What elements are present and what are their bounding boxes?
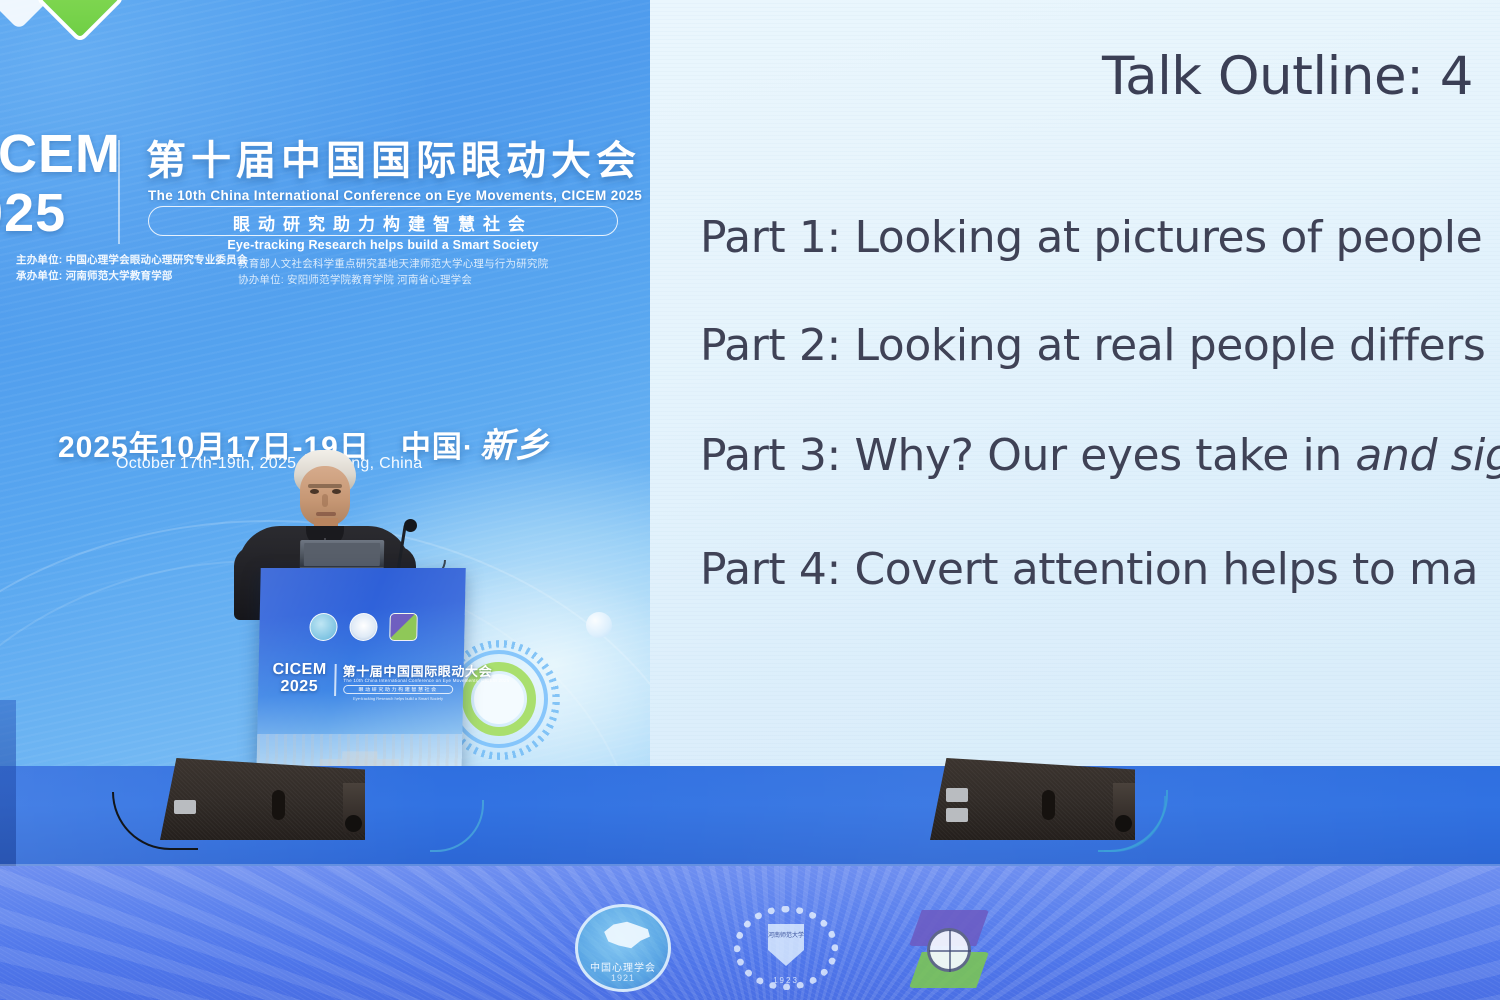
backdrop-divider: [118, 140, 120, 244]
podium-logo-row: [309, 612, 418, 642]
china-map-icon: [600, 919, 652, 953]
stage-left-wall: [0, 700, 16, 870]
backdrop-brand-name: CICEM: [0, 128, 122, 181]
podium-logo-cps-icon: [309, 613, 338, 641]
logo-university-name: 河南师范大学: [768, 932, 804, 941]
podium-subtitle-zh: 眼动研究助力构建智慧社会: [343, 686, 453, 693]
slide-title: Talk Outline: 4: [1102, 46, 1473, 107]
monitor-left-handle: [272, 790, 285, 820]
slide-bullet-part-3-lead: Part 3: Why? Our eyes take in: [700, 430, 1355, 481]
slide-bullet-part-3: Part 3: Why? Our eyes take in and sig: [700, 430, 1500, 481]
screen-scanlines: [650, 0, 1500, 768]
logo-cps-name: 中国心理学会: [578, 959, 668, 974]
backdrop-brand-year: 2025: [0, 185, 122, 242]
globe-icon: [927, 928, 971, 972]
podium-brand-year: 2025: [268, 679, 330, 696]
logo-chinese-psychological-society-icon: 中国心理学会 1921: [575, 904, 671, 992]
slide-bullet-part-2: Part 2: Looking at real people differs: [700, 320, 1485, 371]
podium-title-en: The 10th China International Conference …: [343, 678, 509, 683]
logo-cps-year: 1921: [578, 973, 668, 983]
backdrop-subtitle-en: Eye-tracking Research helps build a Smar…: [148, 238, 618, 252]
speaker-eye-right: [332, 489, 341, 494]
monitor-right-handle: [1042, 790, 1055, 820]
backdrop-brand-lockup: CICEM 2025: [0, 128, 122, 242]
projection-screen: Talk Outline: 4 Part 1: Looking at pictu…: [650, 0, 1500, 768]
backdrop-organizer-line: 承办单位: 河南师范大学教育学部: [16, 268, 173, 283]
monitor-right-connector-a: [946, 788, 968, 802]
backdrop-host-line: 主办单位: 中国心理学会眼动心理研究专业委员会: [16, 252, 248, 267]
slide-bullet-part-3-emphasis: and sig: [1355, 430, 1500, 481]
slide-bullet-part-4: Part 4: Covert attention helps to ma: [700, 544, 1478, 595]
backdrop-coorganizer-line: 教育部人文社会科学重点研究基地天津师范大学心理与行为研究院: [238, 256, 548, 271]
laptop-screen: [304, 543, 380, 566]
stage-skirt-logo-row: 中国心理学会 1921 河南师范大学 1923: [575, 900, 995, 996]
podium-logo-university-icon: [349, 613, 378, 641]
corner-logo-green-icon: [35, 0, 126, 43]
logo-university-year: 1923: [734, 976, 838, 985]
podium-logo-s-icon: [389, 613, 418, 641]
monitor-left-port: [345, 815, 362, 832]
backdrop-title-zh: 第十届中国国际眼动大会: [146, 140, 616, 182]
bubble-decoration: [586, 612, 612, 638]
laptop: [300, 540, 384, 568]
conference-stage-photo: CICEM 2025 第十届中国国际眼动大会 The 10th China In…: [0, 0, 1500, 1000]
speaker-brow: [308, 484, 342, 488]
logo-university-crest-icon: 河南师范大学 1923: [734, 902, 838, 994]
podium-brand-lockup: CICEM 2025: [268, 662, 331, 696]
logo-s-mark-icon: [901, 904, 995, 992]
backdrop-subtitle-zh: 眼动研究助力构建智慧社会: [148, 210, 618, 235]
slide-bullet-part-1: Part 1: Looking at pictures of people: [700, 212, 1482, 263]
speaker-mouth: [316, 512, 336, 516]
podium-brand-name: CICEM: [268, 662, 330, 679]
backdrop-title-en: The 10th China International Conference …: [148, 188, 618, 203]
microphone-head-icon: [404, 519, 417, 532]
monitor-right-connector-b: [946, 808, 968, 822]
speaker-nose: [322, 494, 328, 507]
backdrop-city-zh: 新乡: [480, 428, 550, 465]
backdrop-support-line: 协办单位: 安阳师范学院教育学院 河南省心理学会: [238, 272, 472, 287]
podium-subtitle-en: Eye-tracking Research helps build a Smar…: [343, 696, 453, 701]
speaker-eye-left: [310, 489, 319, 494]
